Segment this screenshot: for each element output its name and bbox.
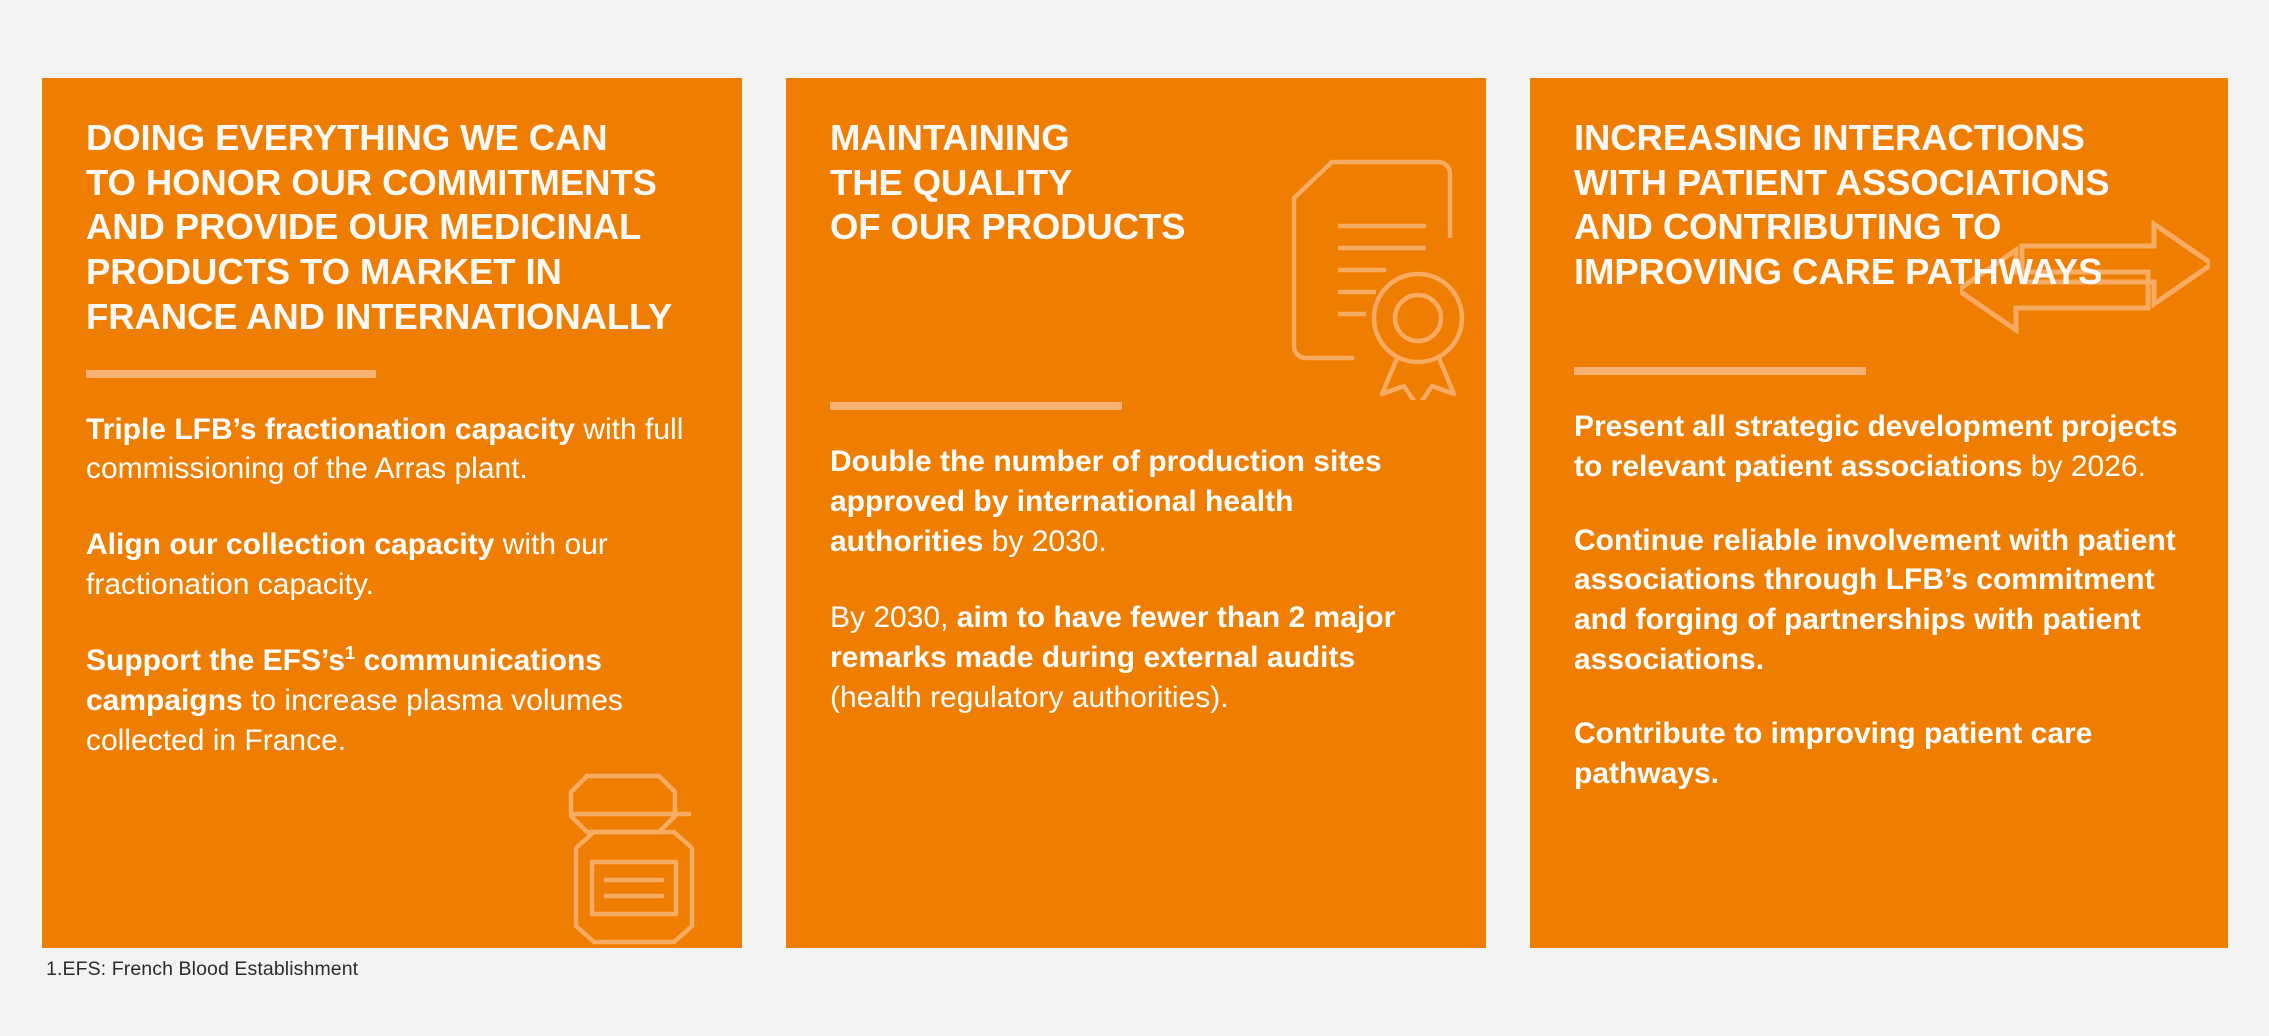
paragraph-lead: Contribute to improving patient care pat… (1574, 717, 2092, 790)
paragraph-lead: Align our collection capacity (86, 528, 494, 561)
paragraph-prefix: By 2030, (830, 601, 957, 634)
card-body: Double the number of production sites ap… (830, 442, 1442, 717)
headline-divider (1574, 367, 1866, 375)
card-commitments: DOING EVERYTHING WE CAN TO HONOR OUR COM… (42, 78, 742, 948)
paragraph-rest: by 2026. (2022, 450, 2145, 483)
card-row: DOING EVERYTHING WE CAN TO HONOR OUR COM… (42, 78, 2228, 948)
paragraph-lead: Continue reliable involvement with patie… (1574, 524, 2176, 677)
card-headline: MAINTAINING THE QUALITY OF OUR PRODUCTS (830, 116, 1442, 250)
bullet-paragraph: Triple LFB’s fractionation capacity with… (86, 410, 698, 490)
bullet-paragraph: Support the EFS’s1 communications campai… (86, 641, 698, 761)
paragraph-lead: Triple LFB’s fractionation capacity (86, 413, 575, 446)
card-body: Triple LFB’s fractionation capacity with… (86, 410, 698, 761)
card-headline: INCREASING INTERACTIONS WITH PATIENT ASS… (1574, 116, 2184, 295)
bullet-paragraph: Align our collection capacity with our f… (86, 525, 698, 605)
card-headline: DOING EVERYTHING WE CAN TO HONOR OUR COM… (86, 116, 698, 340)
bullet-paragraph: By 2030, aim to have fewer than 2 major … (830, 598, 1442, 718)
card-patient-associations: INCREASING INTERACTIONS WITH PATIENT ASS… (1530, 78, 2228, 948)
headline-divider (86, 370, 376, 378)
footnote-text: 1.EFS: French Blood Establishment (46, 958, 358, 981)
headline-divider (830, 402, 1122, 410)
medicine-vial-icon (554, 762, 714, 948)
paragraph-rest: (health regulatory authorities). (830, 681, 1229, 714)
bullet-paragraph: Continue reliable involvement with patie… (1574, 521, 2184, 681)
bullet-paragraph: Double the number of production sites ap… (830, 442, 1442, 562)
bullet-paragraph: Contribute to improving patient care pat… (1574, 714, 2184, 794)
card-quality: MAINTAINING THE QUALITY OF OUR PRODUCTS … (786, 78, 1486, 948)
bullet-paragraph: Present all strategic development projec… (1574, 407, 2184, 487)
slide-canvas: DOING EVERYTHING WE CAN TO HONOR OUR COM… (0, 0, 2269, 1036)
paragraph-lead: Support the EFS’s (86, 644, 345, 677)
footnote-marker: 1 (345, 642, 355, 663)
card-body: Present all strategic development projec… (1574, 407, 2184, 794)
paragraph-rest: by 2030. (983, 525, 1106, 558)
